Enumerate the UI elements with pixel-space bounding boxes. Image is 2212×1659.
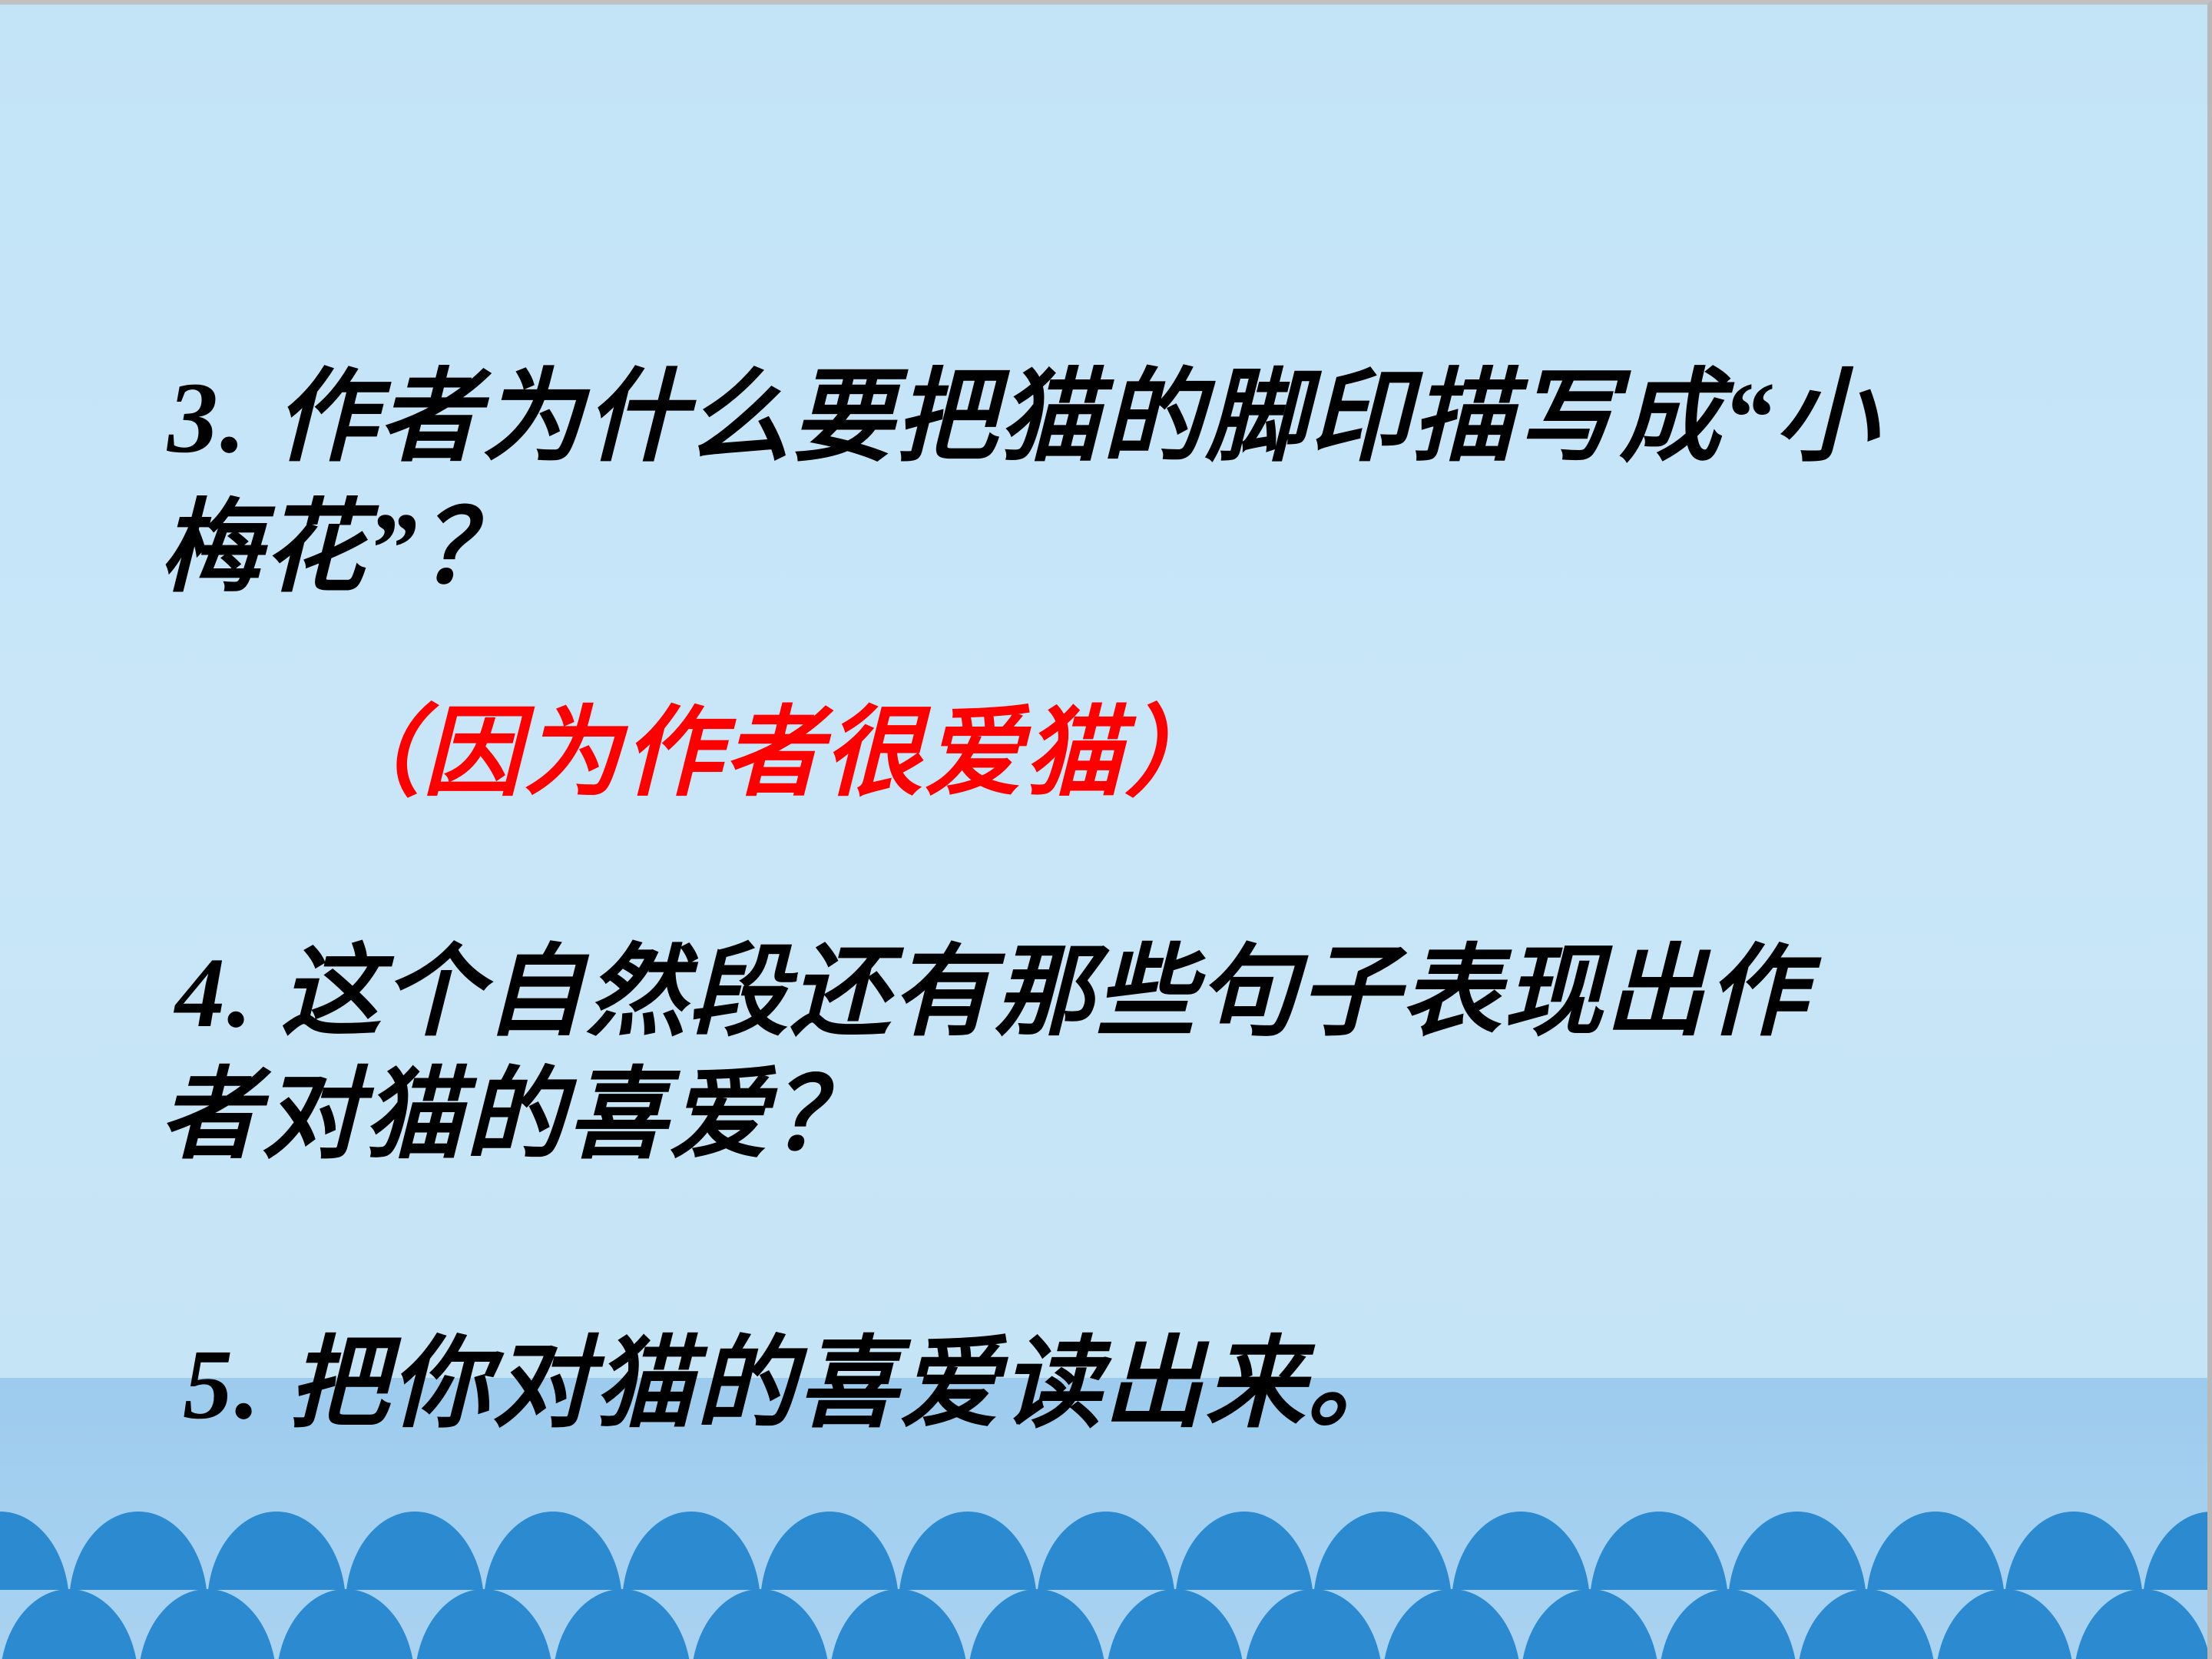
question-3-line-2: 梅花”？	[160, 465, 523, 612]
question-4-line-2: 者对猫的喜爱？	[160, 1034, 873, 1178]
question-5-line-1: 5. 把你对猫的喜爱读出来。	[183, 1303, 1409, 1447]
slide-content: 3. 作者为什么要把猫的脚印描写成“小 梅花”？ （因为作者很爱猫） 4. 这个…	[0, 5, 2212, 1659]
slide-canvas: 3. 作者为什么要把猫的脚印描写成“小 梅花”？ （因为作者很爱猫） 4. 这个…	[0, 0, 2212, 1659]
question-3-line-1: 3. 作者为什么要把猫的脚印描写成“小	[167, 335, 1879, 482]
question-3-answer: （因为作者很爱猫）	[323, 673, 1225, 815]
